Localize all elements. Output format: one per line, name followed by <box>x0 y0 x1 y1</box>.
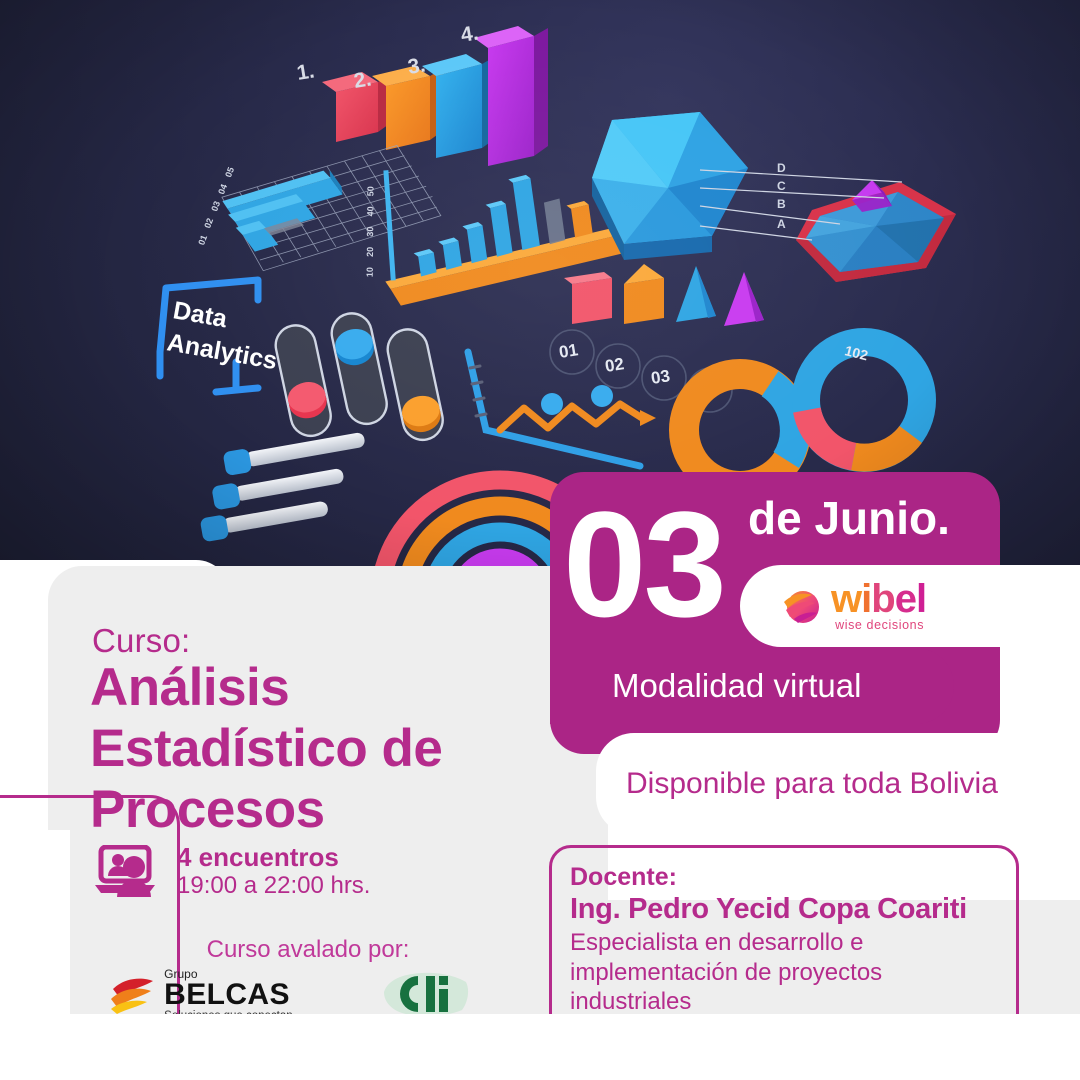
endorsement-heading: Curso avalado por: <box>48 936 568 964</box>
wibel-letter-i: i <box>861 577 871 621</box>
date-month: de Junio. <box>748 495 950 541</box>
course-title: Análisis Estadístico de Procesos <box>90 658 600 841</box>
brand-pill: wibel wise decisions <box>740 565 1080 647</box>
modality-pill: Modalidad virtual <box>550 648 954 724</box>
wibel-letter-w: w <box>831 577 861 621</box>
webinar-laptop-people-icon <box>95 845 161 897</box>
instructor-description-line-3: industriales <box>570 987 1010 1016</box>
wibel-sphere-icon <box>782 586 822 626</box>
wibel-letter-b: b <box>871 577 894 621</box>
course-title-line-1: Análisis <box>90 658 600 719</box>
course-title-line-3: Procesos <box>90 780 600 841</box>
wibel-letter-l: l <box>916 577 926 621</box>
instructor-description: Especialista en desarrollo e implementac… <box>570 928 1010 1016</box>
instructor-name: Ing. Pedro Yecid Copa Coariti <box>570 892 1010 927</box>
poster-root: 1. 2. 3. 4. <box>0 0 1080 1080</box>
date-day: 03 <box>563 489 724 639</box>
sessions-text: 4 encuentros 19:00 a 22:00 hrs. <box>177 843 370 900</box>
instructor-label: Docente: <box>570 862 1010 892</box>
instructor-description-line-2: implementación de proyectos <box>570 958 1010 987</box>
wibel-letter-e: e <box>895 577 916 621</box>
cii-emblem-icon <box>378 968 474 1020</box>
sessions-schedule: 19:00 a 22:00 hrs. <box>177 872 370 900</box>
wibel-wordmark-block: wibel wise decisions <box>831 580 926 632</box>
bottom-white-strip <box>0 1014 1080 1080</box>
availability-pill: Disponible para toda Bolivia <box>596 733 1080 835</box>
instructor-description-line-1: Especialista en desarrollo e <box>570 928 1010 957</box>
modality-label: Modalidad virtual <box>612 667 861 705</box>
instructor-content: Docente: Ing. Pedro Yecid Copa Coariti E… <box>570 862 1010 1016</box>
course-title-line-2: Estadístico de <box>90 719 600 780</box>
course-eyebrow: Curso: <box>92 622 190 660</box>
sessions-count: 4 encuentros <box>177 843 370 872</box>
availability-label: Disponible para toda Bolivia <box>626 767 998 801</box>
belcas-flame-icon <box>109 975 157 1015</box>
wibel-wordmark: wibel <box>831 580 926 618</box>
wibel-tagline: wise decisions <box>835 618 924 632</box>
sessions-row: 4 encuentros 19:00 a 22:00 hrs. <box>95 843 370 900</box>
wibel-logo: wibel wise decisions <box>782 580 926 632</box>
belcas-name: BELCAS <box>164 981 293 1009</box>
